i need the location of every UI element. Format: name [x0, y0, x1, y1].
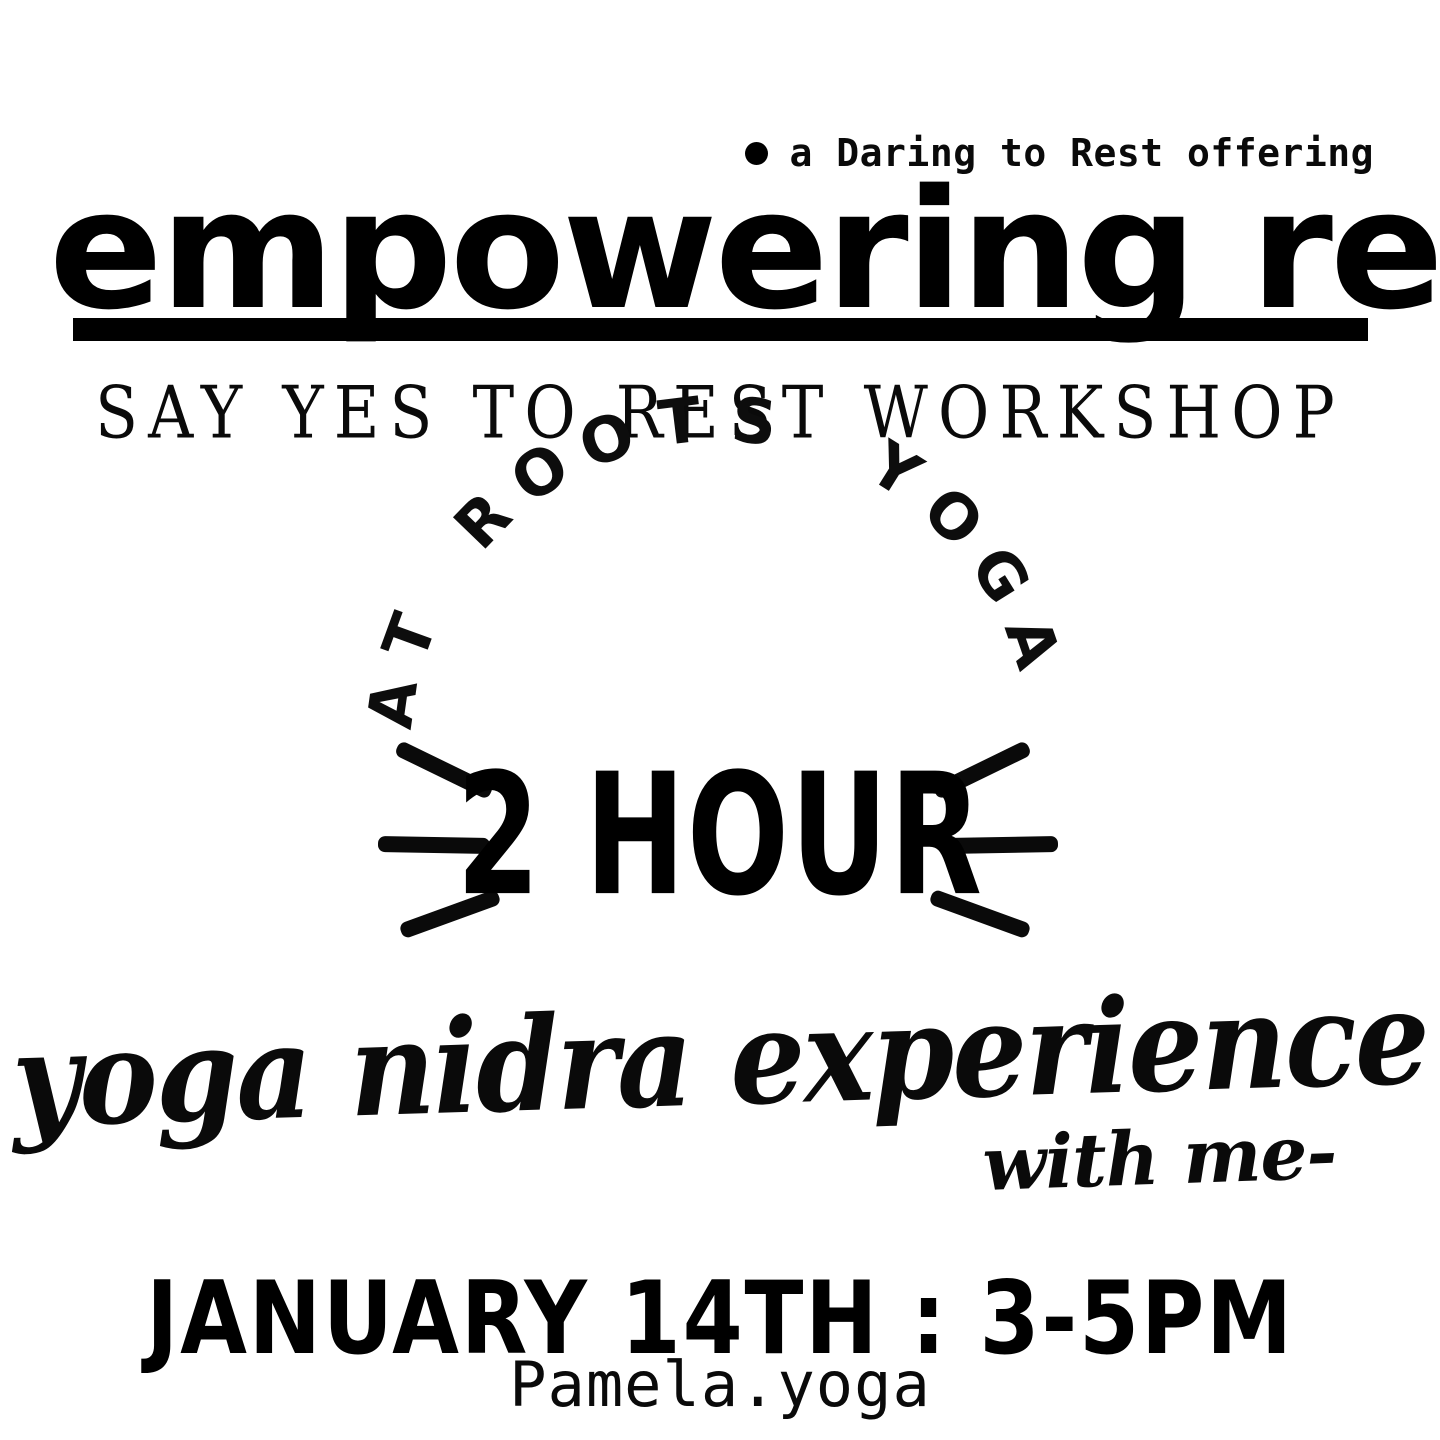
page-title: empowering rest: [49, 168, 1395, 333]
social-handle: Pamela.yoga: [0, 1354, 1440, 1416]
poster-canvas: a Daring to Rest offering empowering res…: [0, 0, 1440, 1440]
duration-label: 2 HOUR: [144, 752, 1296, 920]
title-underline-bar: [73, 318, 1368, 341]
subtitle: SAY YES TO REST WORKSHOP: [58, 378, 1383, 450]
